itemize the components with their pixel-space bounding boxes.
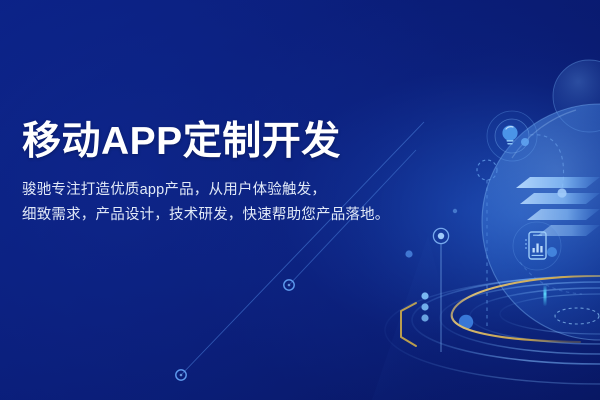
chevron-speed-arrows [516, 177, 600, 236]
lightbulb-idea-icon [487, 111, 537, 161]
small-translucent-sphere [553, 60, 600, 132]
subtitle-line-1: 骏驰专注打造优质app产品，从用户体验触发， [22, 178, 422, 203]
dashed-vertical-connector [477, 160, 497, 330]
dashed-curve-connector [530, 135, 564, 190]
hero-subtitle: 骏驰专注打造优质app产品，从用户体验触发， 细致需求，产品设计，技术研发，快速… [22, 178, 422, 228]
large-translucent-sphere [482, 104, 600, 340]
gold-orbit-arc [452, 276, 600, 342]
gold-bracket-shape [401, 303, 416, 346]
elliptical-orbit-rings [385, 276, 600, 384]
cyan-vertical-beam [544, 284, 547, 306]
hero-text-block: 移动APP定制开发 骏驰专注打造优质app产品，从用户体验触发， 细致需求，产品… [22, 120, 422, 228]
page-title: 移动APP定制开发 [22, 120, 422, 164]
subtitle-line-2: 细致需求，产品设计，技术研发，快速帮助您产品落地。 [22, 203, 422, 228]
mobile-analytics-icon [513, 222, 561, 270]
stacked-indicator-dots [421, 292, 428, 321]
dashed-ellipse-marker [555, 308, 599, 324]
hero-banner: 移动APP定制开发 骏驰专注打造优质app产品，从用户体验触发， 细致需求，产品… [0, 0, 600, 400]
node-with-stem [433, 228, 448, 352]
dashed-curve-connector-lower [520, 262, 582, 294]
background-wedge [372, 236, 470, 400]
